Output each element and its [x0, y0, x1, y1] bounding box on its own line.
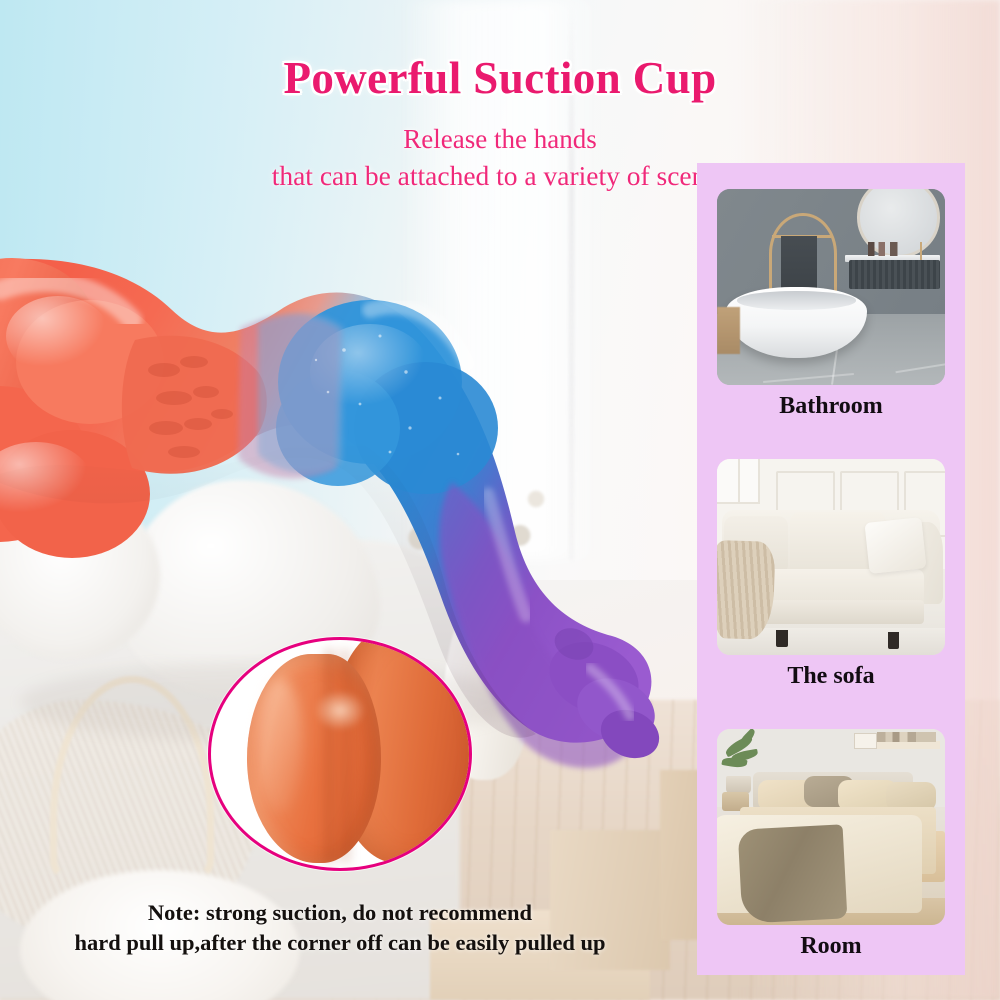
bedroom-thumbnail: [717, 729, 945, 925]
note-line-2: hard pull up,after the corner off can be…: [10, 928, 670, 958]
bedroom-throw-blanket: [737, 824, 847, 923]
bedroom-picture-frame: [854, 733, 877, 749]
bathtub-interior: [737, 291, 856, 309]
scene-label-bathroom: Bathroom: [697, 393, 965, 420]
bathroom-side-object: [717, 307, 740, 354]
suction-cup-crease: [325, 649, 351, 863]
sofa-thumbnail: [717, 459, 945, 655]
closeup-content: [211, 640, 469, 868]
scene-label-sofa: The sofa: [697, 663, 965, 690]
bathroom-vanity: [849, 260, 940, 289]
note-text: Note: strong suction, do not recommend h…: [10, 898, 670, 958]
sofa-throw-pillow: [865, 517, 927, 574]
bedroom-books: [877, 732, 936, 742]
bathroom-thumbnail: [717, 189, 945, 385]
scene-item-sofa: The sofa: [697, 459, 965, 690]
sofa-leg: [776, 630, 787, 648]
scene-panel: Bathroom Th: [697, 163, 965, 975]
page-title: Powerful Suction Cup: [0, 52, 1000, 104]
bathroom-tap: [920, 242, 923, 260]
suction-cup-highlight: [314, 690, 366, 731]
scene-item-room: Room: [697, 729, 965, 960]
suction-cup-front-lobe: [247, 654, 381, 864]
product-marketing-image: Powerful Suction Cup Release the hands t…: [0, 0, 1000, 1000]
subtitle-line-1: Release the hands: [0, 122, 1000, 158]
sofa-leg: [888, 632, 899, 650]
scene-label-room: Room: [697, 933, 965, 960]
scene-item-bathroom: Bathroom: [697, 189, 965, 420]
sofa-knit-throw: [717, 540, 776, 640]
suction-cup-closeup-inset: [208, 637, 472, 871]
sofa-window-mullion: [738, 459, 740, 502]
note-line-1: Note: strong suction, do not recommend: [10, 898, 670, 928]
bathroom-bottles: [868, 242, 909, 256]
